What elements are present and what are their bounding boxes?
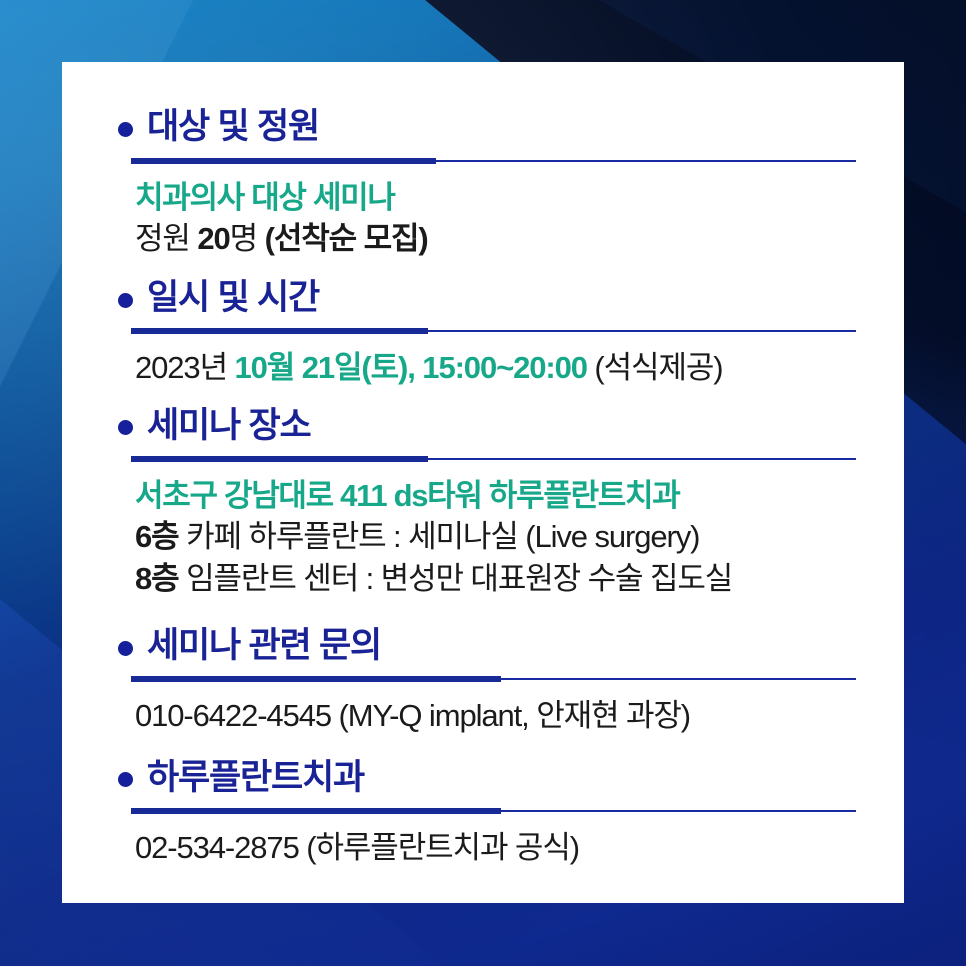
section-inquiry: 세미나 관련 문의010-6422-4545 (MY-Q implant, 안재… bbox=[106, 627, 860, 737]
section-divider-audience bbox=[131, 158, 856, 164]
section-body-audience: 치과의사 대상 세미나정원 20명 (선착순 모집) bbox=[135, 177, 860, 259]
body-text-fragment: 2023년 bbox=[135, 350, 235, 385]
bullet-dot-icon bbox=[118, 420, 133, 435]
section-datetime: 일시 및 시간2023년 10월 21일(토), 15:00~20:00 (석식… bbox=[106, 279, 860, 389]
section-heading-row-venue: 세미나 장소 bbox=[118, 407, 860, 446]
body-line: 010-6422-4545 (MY-Q implant, 안재현 과장) bbox=[135, 695, 860, 736]
bullet-dot-icon bbox=[118, 772, 133, 787]
body-line: 6층 카페 하루플란트 : 세미나실 (Live surgery) bbox=[135, 516, 860, 557]
divider-thick-bar bbox=[131, 158, 436, 164]
section-audience: 대상 및 정원치과의사 대상 세미나정원 20명 (선착순 모집) bbox=[106, 108, 860, 259]
section-heading-row-datetime: 일시 및 시간 bbox=[118, 279, 860, 318]
section-divider-clinic bbox=[131, 808, 856, 814]
body-line: 2023년 10월 21일(토), 15:00~20:00 (석식제공) bbox=[135, 347, 860, 388]
section-divider-venue bbox=[131, 456, 856, 462]
section-body-inquiry: 010-6422-4545 (MY-Q implant, 안재현 과장) bbox=[135, 695, 860, 736]
section-heading-row-audience: 대상 및 정원 bbox=[118, 108, 860, 147]
info-card: 대상 및 정원치과의사 대상 세미나정원 20명 (선착순 모집)일시 및 시간… bbox=[62, 62, 904, 903]
body-line: 서초구 강남대로 411 ds타워 하루플란트치과 bbox=[135, 475, 860, 516]
section-title-inquiry: 세미나 관련 문의 bbox=[147, 627, 381, 666]
body-text-fragment: 20 bbox=[197, 221, 229, 256]
section-title-datetime: 일시 및 시간 bbox=[147, 279, 319, 318]
body-text-fragment: (석식제공) bbox=[587, 350, 723, 385]
body-text-fragment: 02-534-2875 (하루플란트치과 공식) bbox=[135, 830, 579, 865]
section-divider-datetime bbox=[131, 328, 856, 334]
section-divider-inquiry bbox=[131, 676, 856, 682]
divider-thick-bar bbox=[131, 808, 501, 814]
section-heading-row-clinic: 하루플란트치과 bbox=[118, 759, 860, 798]
bullet-dot-icon bbox=[118, 641, 133, 656]
section-body-venue: 서초구 강남대로 411 ds타워 하루플란트치과6층 카페 하루플란트 : 세… bbox=[135, 475, 860, 599]
section-body-clinic: 02-534-2875 (하루플란트치과 공식) bbox=[135, 827, 860, 868]
divider-thick-bar bbox=[131, 328, 428, 334]
section-title-audience: 대상 및 정원 bbox=[147, 108, 319, 147]
section-title-venue: 세미나 장소 bbox=[147, 407, 311, 446]
section-body-datetime: 2023년 10월 21일(토), 15:00~20:00 (석식제공) bbox=[135, 347, 860, 388]
section-venue: 세미나 장소서초구 강남대로 411 ds타워 하루플란트치과6층 카페 하루플… bbox=[106, 407, 860, 599]
body-line: 02-534-2875 (하루플란트치과 공식) bbox=[135, 827, 860, 868]
body-line: 정원 20명 (선착순 모집) bbox=[135, 218, 860, 259]
bullet-dot-icon bbox=[118, 122, 133, 137]
body-text-fragment: 명 bbox=[230, 221, 265, 256]
body-line: 8층 임플란트 센터 : 변성만 대표원장 수술 집도실 bbox=[135, 558, 860, 599]
body-line: 치과의사 대상 세미나 bbox=[135, 177, 860, 218]
body-text-fragment: 카페 하루플란트 : 세미나실 (Live surgery) bbox=[179, 519, 700, 554]
bullet-dot-icon bbox=[118, 293, 133, 308]
body-text-fragment: 6층 bbox=[135, 519, 179, 554]
body-text-fragment: 010-6422-4545 (MY-Q implant, 안재현 과장) bbox=[135, 698, 690, 733]
section-title-clinic: 하루플란트치과 bbox=[147, 759, 364, 798]
section-heading-row-inquiry: 세미나 관련 문의 bbox=[118, 627, 860, 666]
body-text-fragment: 8층 bbox=[135, 561, 179, 596]
divider-thick-bar bbox=[131, 456, 428, 462]
body-text-fragment: 정원 bbox=[135, 221, 197, 256]
body-text-fragment: 임플란트 센터 : 변성만 대표원장 수술 집도실 bbox=[179, 561, 733, 596]
seminar-announcement-poster: 대상 및 정원치과의사 대상 세미나정원 20명 (선착순 모집)일시 및 시간… bbox=[0, 0, 966, 966]
body-text-fragment: (선착순 모집) bbox=[265, 221, 428, 256]
divider-thick-bar bbox=[131, 676, 501, 682]
body-text-fragment: 10월 21일(토), 15:00~20:00 bbox=[235, 350, 587, 385]
section-clinic: 하루플란트치과02-534-2875 (하루플란트치과 공식) bbox=[106, 759, 860, 869]
